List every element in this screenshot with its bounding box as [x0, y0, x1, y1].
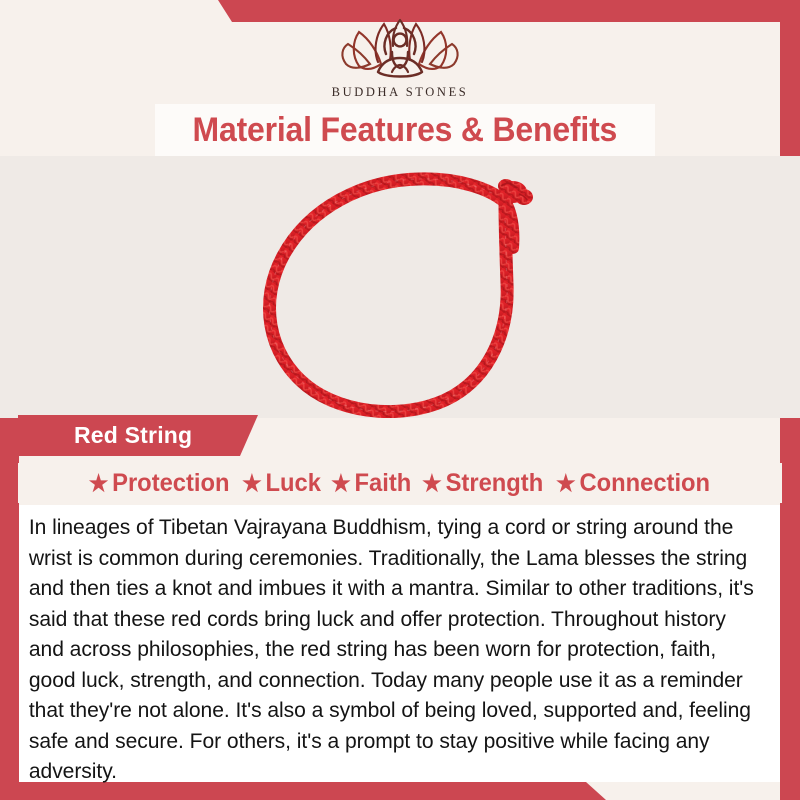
- star-icon: ★: [89, 472, 109, 495]
- benefit-item-connection: ★ Connection: [556, 469, 710, 498]
- benefit-label: Faith: [354, 469, 411, 498]
- star-icon: ★: [242, 472, 262, 495]
- description-panel: In lineages of Tibetan Vajrayana Buddhis…: [19, 505, 780, 782]
- brand-name: BUDDHA STONES: [332, 85, 469, 100]
- brand-logo: BUDDHA STONES: [0, 14, 800, 100]
- lotus-meditation-icon: [326, 14, 474, 82]
- benefit-item-faith: ★ Faith: [331, 469, 411, 498]
- star-icon: ★: [422, 472, 442, 495]
- benefit-item-luck: ★ Luck: [242, 469, 321, 498]
- benefit-item-strength: ★ Strength: [422, 469, 543, 498]
- description-paragraph: In lineages of Tibetan Vajrayana Buddhis…: [19, 505, 769, 787]
- benefits-row: ★ Protection ★ Luck ★ Faith ★ Strength ★…: [18, 463, 782, 503]
- benefit-item-protection: ★ Protection: [89, 469, 230, 498]
- header: BUDDHA STONES: [0, 0, 800, 104]
- product-image-area: [0, 156, 800, 418]
- title-band: Material Features & Benefits: [155, 104, 655, 156]
- page-title: Material Features & Benefits: [193, 111, 618, 150]
- star-icon: ★: [556, 472, 576, 495]
- material-banner: Red String: [18, 415, 258, 456]
- benefit-label: Protection: [113, 469, 230, 498]
- star-icon: ★: [331, 472, 351, 495]
- benefit-label: Connection: [580, 469, 711, 498]
- red-braided-string-bracelet: [243, 156, 563, 418]
- infographic-page: BUDDHA STONES Material Features & Benefi…: [0, 0, 800, 800]
- benefit-label: Luck: [265, 469, 320, 498]
- benefit-label: Strength: [446, 469, 544, 498]
- material-label: Red String: [74, 422, 192, 449]
